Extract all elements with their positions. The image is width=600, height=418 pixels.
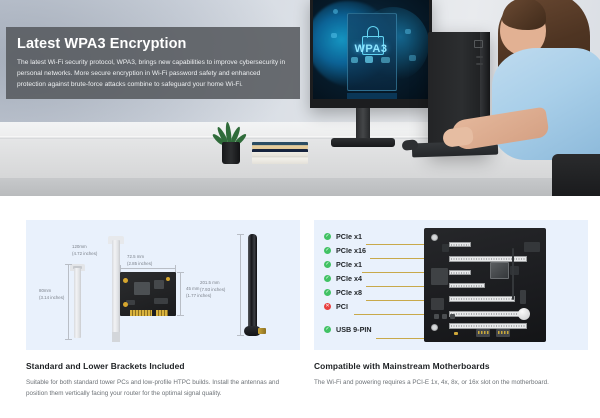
motherboard-diagram: ✓ PCIe x1 ✓ PCIe x16 ✓ PCIe x1 ✓ PCIe x4… xyxy=(314,220,588,350)
pcb-chip xyxy=(154,280,164,289)
tower-power-button xyxy=(474,40,483,48)
check-icon: ✓ xyxy=(324,247,331,254)
feature-compatibility: ✓ PCIe x1 ✓ PCIe x16 ✓ PCIe x1 ✓ PCIe x4… xyxy=(314,220,588,388)
right-caption-title: Compatible with Mainstream Motherboards xyxy=(314,361,588,371)
antenna-connector xyxy=(123,302,128,307)
slot-item-pcie-x1: ✓ PCIe x1 xyxy=(324,230,404,242)
small-chip xyxy=(520,290,526,304)
slot-label: PCIe x4 xyxy=(336,274,362,283)
pcb-trace xyxy=(512,248,514,300)
usb-9-pin-header-2 xyxy=(496,329,510,337)
small-chip xyxy=(434,314,439,319)
network-node-icon xyxy=(405,29,411,34)
cmos-battery xyxy=(518,308,530,320)
tower-port-slot xyxy=(476,63,483,65)
slot-item-pcie-x4: ✓ PCIe x4 xyxy=(324,273,404,285)
dimension-line xyxy=(120,268,176,269)
low-profile-bracket xyxy=(74,268,81,338)
hero-banner: WPA3 Latest WPA3 Encryption The l xyxy=(0,0,600,196)
brackets-diagram: 120mm(4.72 inches) 80mm(3.14 inches) 72.… xyxy=(26,220,300,350)
slot-label: PCIe x1 xyxy=(336,260,362,269)
dimension-label-card-height: 80mm(3.14 inches) xyxy=(39,288,64,301)
dimension-line xyxy=(180,272,181,316)
device-icon xyxy=(351,57,358,63)
slot-item-pcie-x16: ✓ PCIe x16 xyxy=(324,244,404,256)
book-stack xyxy=(252,142,308,164)
check-icon: ✓ xyxy=(324,289,331,296)
pci-slot xyxy=(449,311,527,317)
pcb-chip xyxy=(154,298,168,304)
cross-icon: ✕ xyxy=(324,303,331,310)
tower-port-slot xyxy=(476,56,483,58)
dimension-tick xyxy=(120,265,121,272)
slot-compatibility-list: ✓ PCIe x1 ✓ PCIe x16 ✓ PCIe x1 ✓ PCIe x4… xyxy=(324,230,404,338)
feature-brackets: 120mm(4.72 inches) 80mm(3.14 inches) 72.… xyxy=(26,220,300,399)
feature-panels: 120mm(4.72 inches) 80mm(3.14 inches) 72.… xyxy=(0,196,600,418)
slot-item-pcie-x8: ✓ PCIe x8 xyxy=(324,287,404,299)
monitor: WPA3 xyxy=(310,0,432,108)
right-caption-body: The Wi-Fi and powering requires a PCI-E … xyxy=(314,377,588,388)
pcie-x4-slot xyxy=(449,283,485,288)
check-icon: ✓ xyxy=(324,233,331,240)
network-node-icon xyxy=(331,33,337,38)
leader-line xyxy=(370,258,430,259)
slot-item-usb-9-pin: ✓ USB 9-PIN xyxy=(324,324,404,336)
device-icon xyxy=(365,56,373,63)
pcb-gold-fingers xyxy=(156,310,168,316)
standard-bracket xyxy=(112,240,120,340)
dimension-tick xyxy=(177,272,184,273)
hero-description: The latest Wi-Fi security protocol, WPA3… xyxy=(17,58,289,91)
left-caption-title: Standard and Lower Brackets Included xyxy=(26,361,300,371)
antenna-connector xyxy=(123,278,128,283)
monitor-chin xyxy=(310,99,432,108)
usb-header-pin xyxy=(454,332,458,335)
dimension-tick xyxy=(237,234,244,235)
leader-line xyxy=(366,300,430,301)
io-chip xyxy=(431,268,448,285)
book xyxy=(252,156,308,164)
chipset-heatsink xyxy=(490,262,509,279)
slot-label: USB 9-PIN xyxy=(336,325,372,334)
dimension-tick xyxy=(175,265,176,272)
slot-item-pcie-x1-2: ✓ PCIe x1 xyxy=(324,258,404,270)
plant-pot xyxy=(222,142,240,164)
dimension-label-low-bracket-height: 120mm(4.72 inches) xyxy=(72,244,97,257)
slot-item-pci: ✕ PCI xyxy=(324,301,404,313)
person-torso xyxy=(492,48,600,160)
network-node-icon xyxy=(409,55,416,61)
office-chair xyxy=(552,154,600,196)
io-chip xyxy=(431,298,444,310)
monitor-stand-base xyxy=(331,138,395,147)
pcb-gold-fingers xyxy=(130,310,152,316)
small-chip xyxy=(442,314,447,319)
slot-label: PCIe x8 xyxy=(336,288,362,297)
wpa3-screen-label: WPA3 xyxy=(313,43,429,55)
small-chip xyxy=(450,314,455,319)
usb-9-pin-header xyxy=(476,329,490,337)
small-chip xyxy=(442,244,449,252)
leader-line xyxy=(366,286,430,287)
slot-label: PCIe x1 xyxy=(336,232,362,241)
pcie-x1-slot xyxy=(449,242,471,247)
slot-label: PCI xyxy=(336,302,348,311)
leader-line xyxy=(362,272,430,273)
wifi-antenna xyxy=(248,234,257,330)
dimension-tick xyxy=(237,335,244,336)
slot-label: PCIe x16 xyxy=(336,246,366,255)
pcie-x16-slot xyxy=(449,256,527,262)
dimension-line xyxy=(240,234,241,336)
dimension-tick xyxy=(65,339,72,340)
pcb-connector xyxy=(166,277,170,281)
hero-text-card: Latest WPA3 Encryption The latest Wi-Fi … xyxy=(6,27,300,99)
dimension-label-antenna-length: 201.5 mm(7.93 inches) xyxy=(200,280,225,293)
dimension-tick xyxy=(65,264,72,265)
device-icon xyxy=(381,57,390,63)
mount-hole xyxy=(431,234,438,241)
leader-line xyxy=(354,314,430,315)
left-caption-body: Suitable for both standard tower PCs and… xyxy=(26,377,300,399)
check-icon: ✓ xyxy=(324,261,331,268)
pcie-x8-slot xyxy=(449,296,515,302)
mount-hole xyxy=(431,324,438,331)
dimension-label-card-width: 72.5 mm(2.85 inches) xyxy=(127,254,152,267)
dimension-line xyxy=(68,264,69,340)
book xyxy=(252,149,308,156)
desk-front xyxy=(0,178,600,196)
monitor-stand-neck xyxy=(356,108,370,140)
dimension-tick xyxy=(177,315,184,316)
pcie-x1-slot-2 xyxy=(449,270,471,275)
monitor-screen: WPA3 xyxy=(313,0,429,99)
standard-bracket-tab xyxy=(112,332,120,342)
motherboard xyxy=(424,228,546,342)
check-icon: ✓ xyxy=(324,326,331,333)
book xyxy=(252,142,308,149)
pcb-trace-block xyxy=(524,242,540,252)
check-icon: ✓ xyxy=(324,275,331,282)
hero-title: Latest WPA3 Encryption xyxy=(17,36,289,52)
antenna-screw-connector xyxy=(258,328,266,334)
leader-line xyxy=(366,244,428,245)
person-hair-front xyxy=(502,0,546,30)
wifi-dot-icon xyxy=(333,9,338,14)
pcb-chip xyxy=(134,282,150,295)
